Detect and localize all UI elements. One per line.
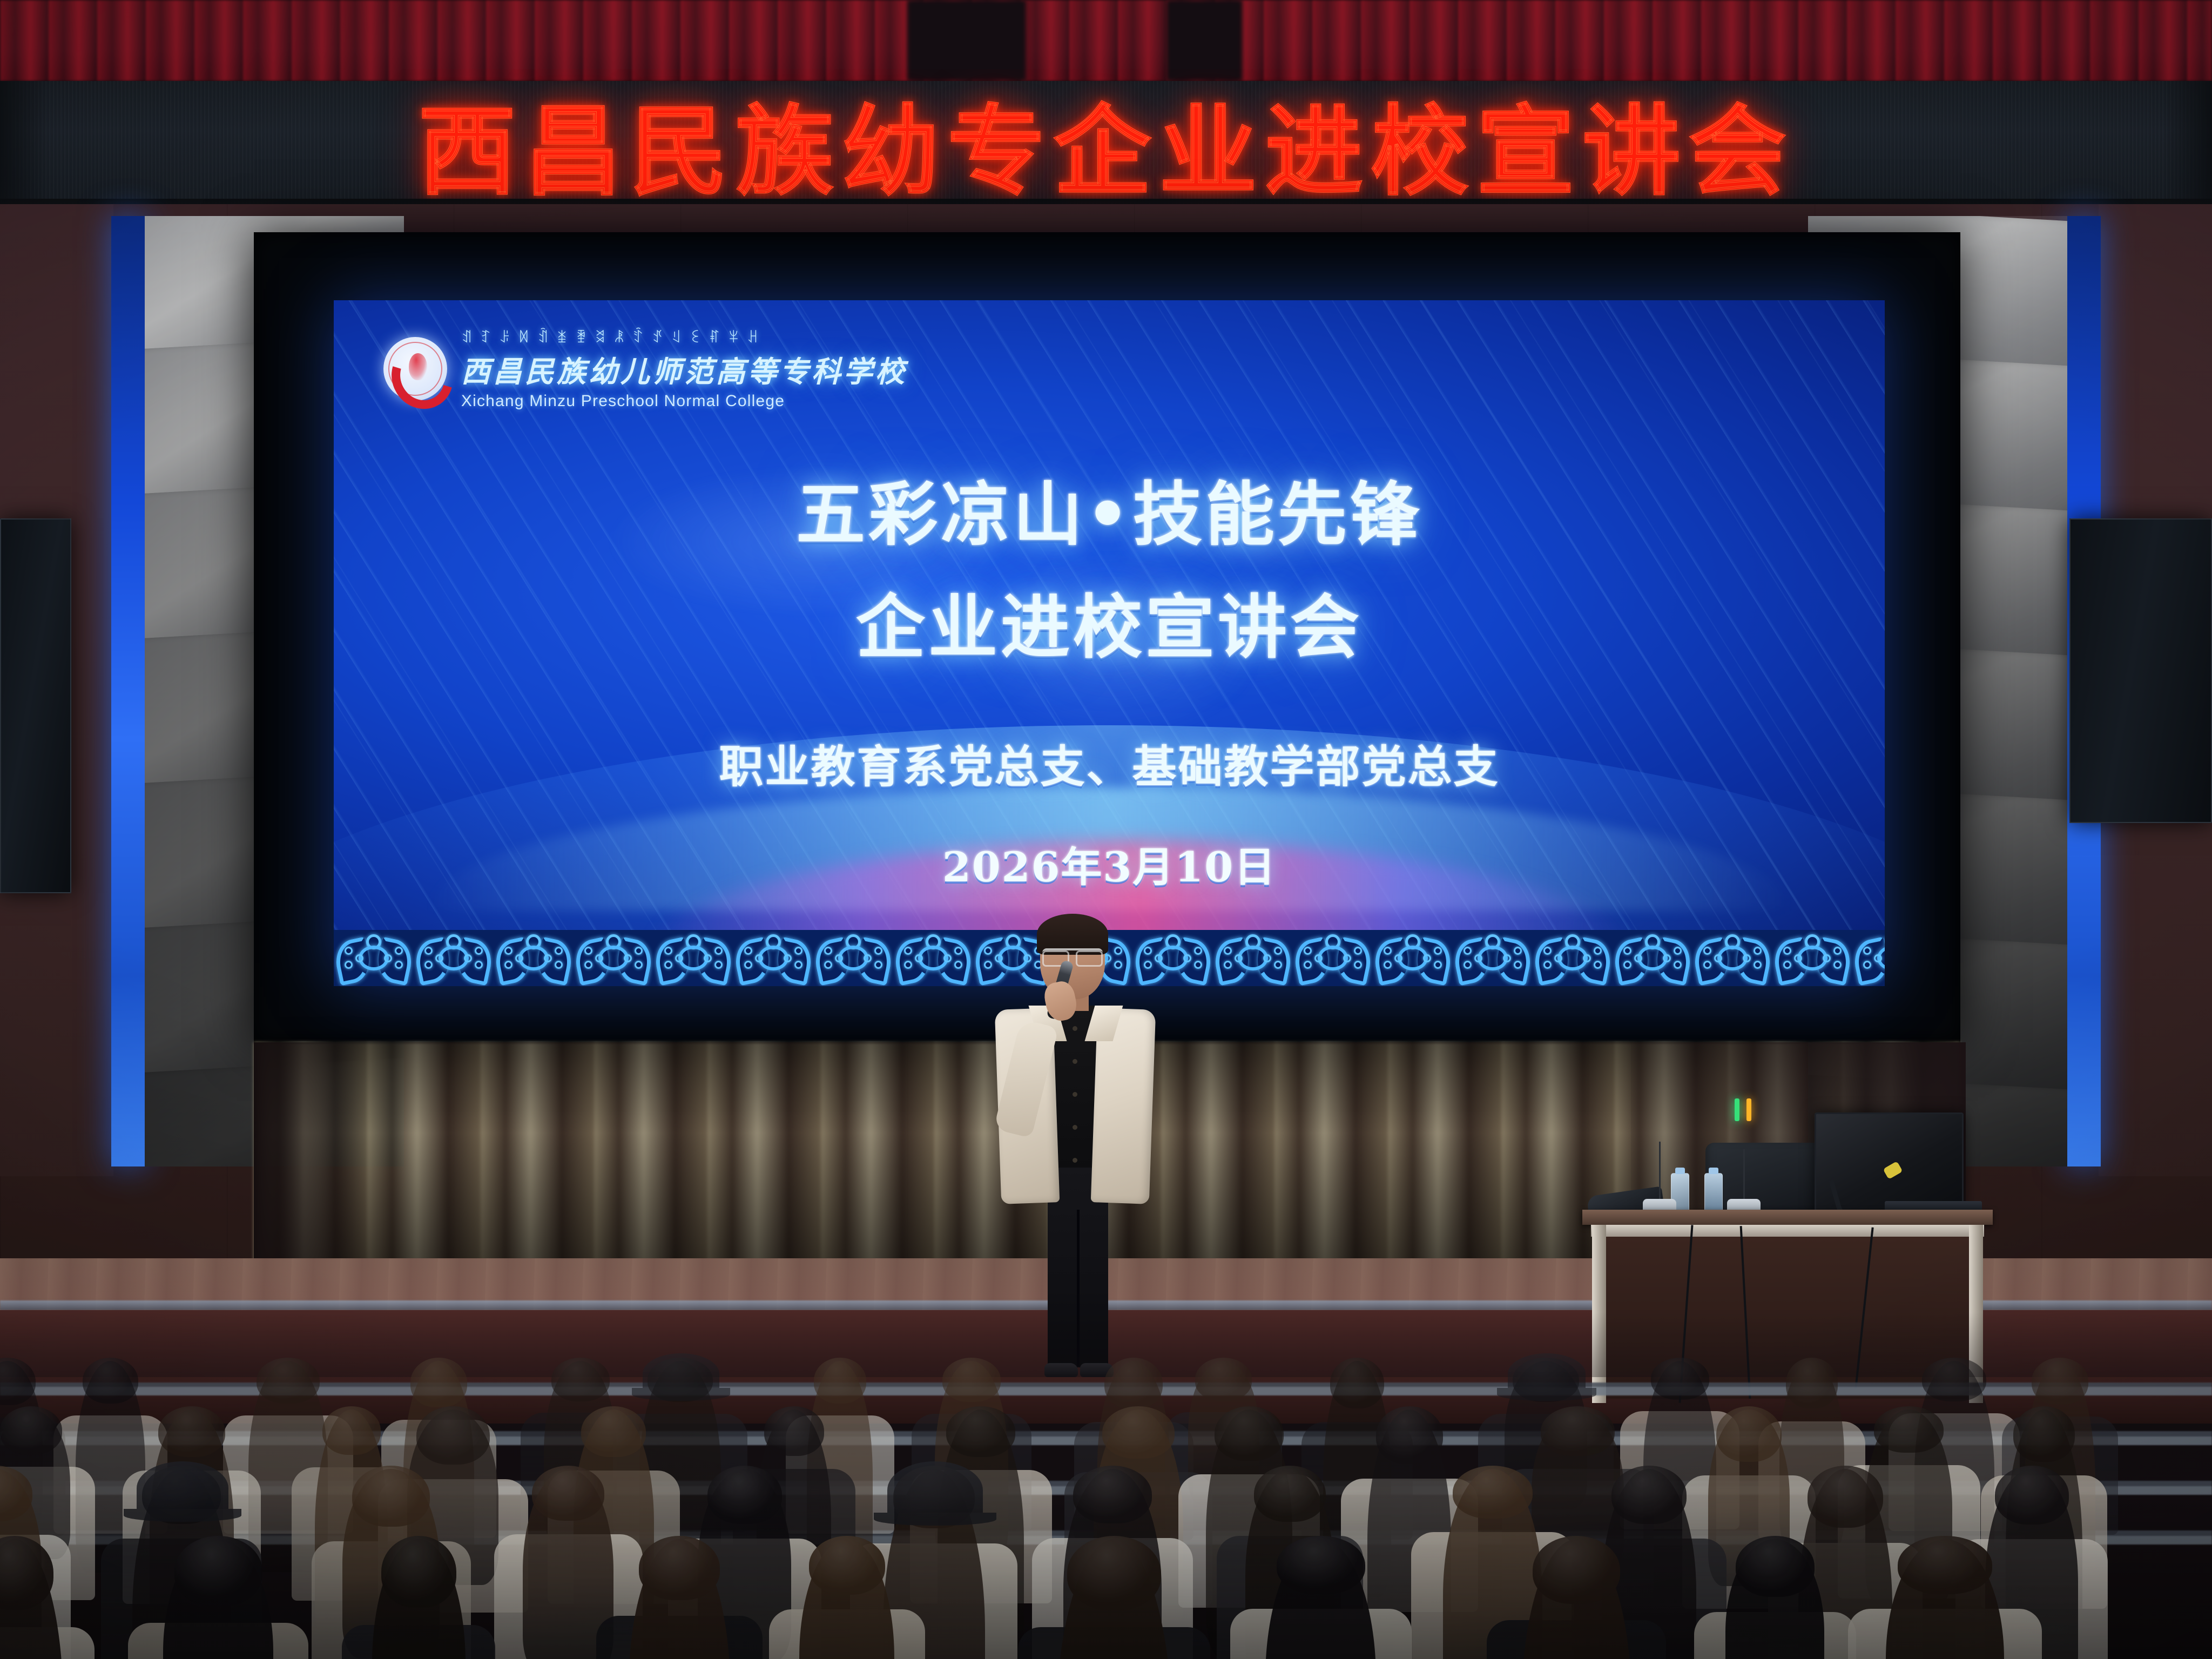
auditorium-scene: 西昌民族幼专企业进校宣讲会 ꀊꆈꌠꉙꀉꁧꄿꈬꂿꄷꀋꆹꏂꐥꈎꃅ 西昌民族幼儿师范高 (0, 0, 2212, 1659)
audience-member-head (942, 1358, 1001, 1402)
table-apron (1591, 1225, 1984, 1237)
audience-member-head (410, 1358, 467, 1407)
slide-date: 2026年3月10日 (334, 834, 1885, 893)
audience-member-head (1808, 1466, 1883, 1528)
water-bottle-2 (1704, 1173, 1723, 1215)
ornament-motif (1852, 935, 1885, 981)
audience-member-head (257, 1358, 320, 1404)
audience-member-head (1195, 1358, 1252, 1401)
ceiling-glow (0, 0, 2212, 81)
audience-member-head (1104, 1358, 1163, 1409)
audience-member-head (1330, 1358, 1385, 1408)
college-emblem-icon (383, 337, 447, 401)
ornament-motif (813, 935, 893, 981)
audience-member-head (581, 1406, 645, 1457)
audience-member-head (1786, 1358, 1838, 1408)
ornament-motif (414, 935, 494, 981)
audience-member-head (1716, 1406, 1782, 1462)
ornament-motif (334, 935, 414, 981)
college-name-en: Xichang Minzu Preschool Normal College (461, 392, 907, 410)
ceiling-beam-2 (1166, 0, 1242, 81)
ornament-motif (1453, 935, 1533, 981)
ornament-motif (893, 935, 973, 981)
yi-script-line: ꀊꆈꌠꉙꀉꁧꄿꈬꂿꄷꀋꆹꏂꐥꈎꃅ (461, 328, 907, 346)
ceiling-beam (907, 0, 1026, 81)
audience-member-head (1067, 1536, 1161, 1610)
led-banner-text: 西昌民族幼专企业进校宣讲会 (0, 81, 2212, 205)
audience-member-head (1874, 1406, 1944, 1453)
audience-member-head (83, 1358, 138, 1404)
audience-member-head (416, 1406, 490, 1465)
audience-member-head (1611, 1466, 1687, 1524)
glasses-icon (1042, 948, 1103, 965)
audience-member-head (0, 1406, 62, 1454)
audience-member-head (1453, 1466, 1533, 1519)
audience-member-head (322, 1406, 381, 1455)
status-led-amber (1746, 1098, 1751, 1121)
audience-member-head (1651, 1358, 1709, 1400)
led-panel-edge-right (2163, 81, 2212, 205)
audience-member-head (1254, 1466, 1325, 1522)
desk-mic-stem-1 (1659, 1142, 1661, 1201)
baseball-cap-icon (887, 1461, 983, 1519)
led-panel-edge-left (0, 81, 49, 205)
audience-member-head (352, 1466, 430, 1527)
status-led-green (1735, 1098, 1739, 1121)
audience-member-head (809, 1536, 885, 1595)
audience-member-head (814, 1358, 867, 1404)
projection-screen: ꀊꆈꌠꉙꀉꁧꄿꈬꂿꄷꀋꆹꏂꐥꈎꃅ 西昌民族幼儿师范高等专科学校 Xichang … (334, 300, 1885, 986)
audience-member-head (1541, 1406, 1615, 1456)
audience-member-head (158, 1406, 226, 1457)
audience-member-head (946, 1406, 1015, 1457)
audience-member-head (764, 1406, 824, 1456)
ornament-motif (494, 935, 574, 981)
ornament-motif (1293, 935, 1373, 981)
slide-title-line1: 五彩凉山•技能先锋 (334, 465, 1885, 566)
slide-text-block: 五彩凉山•技能先锋 企业进校宣讲会 职业教育系党总支、基础教学部党总支 2026… (334, 465, 1885, 893)
audience-member-head (1898, 1536, 1992, 1594)
audience-member-head (1995, 1466, 2069, 1525)
audience-member-head (381, 1536, 456, 1608)
audience-member-head (639, 1536, 720, 1600)
stage-shadow-left (254, 1042, 367, 1269)
audience-member-head (1376, 1406, 1443, 1464)
slide-title-line2: 企业进校宣讲会 (334, 578, 1885, 679)
audience-member-head (1277, 1536, 1365, 1594)
audience-member-head (707, 1466, 782, 1524)
ornament-motif (574, 935, 653, 981)
presenter-jacket-buttons (1073, 1026, 1076, 1193)
audience-member-head (1073, 1466, 1152, 1523)
ornament-motif (1613, 935, 1692, 981)
audience-member-head (1102, 1406, 1174, 1459)
emblem-figure (409, 353, 427, 380)
slide-organizers: 职业教育系党总支、基础教学部党总支 (334, 731, 1885, 795)
ornament-motif (1213, 935, 1293, 981)
ornament-motif (1692, 935, 1772, 981)
audience-member-head (1922, 1358, 1986, 1401)
table-top (1582, 1210, 1993, 1225)
audience-member-head (1533, 1536, 1620, 1604)
college-name-cn: 西昌民族幼儿师范高等专科学校 (461, 348, 907, 390)
ornament-motif (1772, 935, 1852, 981)
ornament-motif (733, 935, 813, 981)
ornament-motif (1373, 935, 1453, 981)
audience-member-head (1736, 1536, 1815, 1597)
audience-member-head (2013, 1406, 2075, 1462)
baseball-cap-icon (137, 1461, 229, 1515)
college-logo-block: ꀊꆈꌠꉙꀉꁧꄿꈬꂿꄷꀋꆹꏂꐥꈎꃅ 西昌民族幼儿师范高等专科学校 Xichang … (383, 328, 907, 410)
ornament-motif (1533, 935, 1613, 981)
baseball-cap-icon (1508, 1353, 1586, 1394)
baseball-cap-icon (643, 1353, 719, 1394)
college-logo-text: ꀊꆈꌠꉙꀉꁧꄿꈬꂿꄷꀋꆹꏂꐥꈎꃅ 西昌民族幼儿师范高等专科学校 Xichang … (461, 328, 907, 410)
audience-member-head (1215, 1406, 1284, 1461)
ornament-motif (653, 935, 733, 981)
audience-member-head (2032, 1358, 2088, 1405)
audience-member-head (532, 1466, 604, 1521)
student-audience (0, 1312, 2212, 1659)
audience-member-head (174, 1536, 262, 1606)
audience-member-head (551, 1358, 610, 1401)
